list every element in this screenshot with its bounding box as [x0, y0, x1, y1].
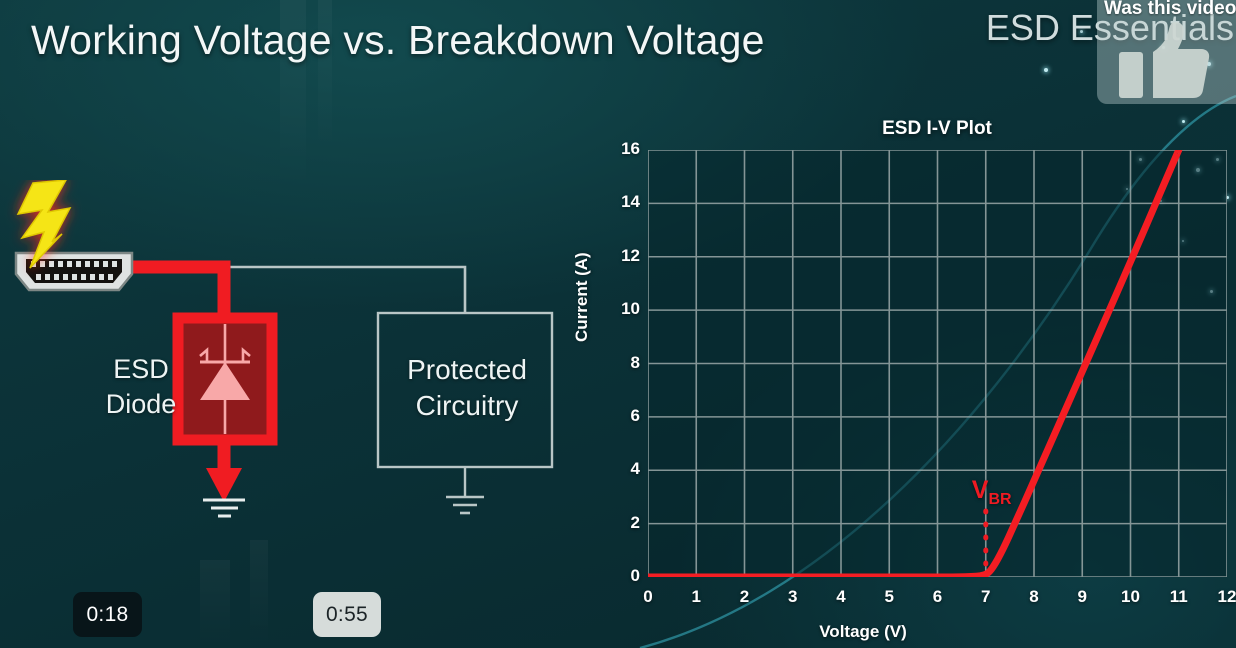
- esd-diode-label-line2: Diode: [86, 387, 196, 422]
- x-tick-label: 8: [1014, 587, 1054, 607]
- y-tick-label: 6: [606, 406, 640, 426]
- bg-streak: [250, 540, 268, 648]
- vbr-annotation: VBR: [972, 476, 1012, 509]
- chart-title-wrapper: ESD I-V Plot: [837, 118, 1037, 140]
- protected-label-line1: Protected: [378, 352, 556, 388]
- current-time-badge[interactable]: 0:18: [73, 592, 142, 637]
- x-tick-label: 9: [1062, 587, 1102, 607]
- x-tick-label: 4: [821, 587, 861, 607]
- esd-diode-label: ESD Diode: [86, 352, 196, 421]
- y-tick-label: 8: [606, 353, 640, 373]
- plot-area: VBR: [648, 150, 1227, 577]
- circuit-diagram: ESD Diode Protected Circuitry: [0, 180, 600, 540]
- gridlines: [648, 150, 1227, 577]
- signal-wire: [139, 267, 465, 313]
- x-tick-label: 6: [918, 587, 958, 607]
- y-tick-label: 2: [606, 513, 640, 533]
- x-tick-label: 3: [773, 587, 813, 607]
- bg-streak: [200, 560, 230, 648]
- y-tick-label: 4: [606, 459, 640, 479]
- y-tick-label: 12: [606, 246, 640, 266]
- esd-current-wire: [133, 267, 224, 320]
- esd-iv-chart: ESD I-V Plot Current (A) Voltage (V) 024…: [575, 108, 1236, 648]
- current-arrow: [206, 468, 242, 502]
- y-tick-label: 16: [606, 139, 640, 159]
- vbr-sublabel: BR: [988, 491, 1011, 508]
- protected-circuitry-label: Protected Circuitry: [378, 352, 556, 424]
- particle: [1044, 68, 1048, 72]
- esd-ground-symbol: [203, 500, 245, 516]
- y-axis-label: Current (A): [572, 252, 592, 342]
- x-axis-label: Voltage (V): [763, 622, 963, 642]
- page-title: Working Voltage vs. Breakdown Voltage: [31, 17, 765, 64]
- protected-label-line2: Circuitry: [378, 388, 556, 424]
- x-tick-label: 12: [1207, 587, 1236, 607]
- x-tick-label: 1: [676, 587, 716, 607]
- y-tick-label: 10: [606, 299, 640, 319]
- y-tick-label: 14: [606, 192, 640, 212]
- vbr-label: V: [972, 476, 989, 504]
- x-tick-label: 11: [1159, 587, 1199, 607]
- total-time-badge[interactable]: 0:55: [313, 592, 381, 637]
- x-tick-label: 10: [1111, 587, 1151, 607]
- survey-prompt: Was this video: [1104, 0, 1236, 20]
- survey-overlay[interactable]: Was this video: [1097, 0, 1236, 104]
- x-tick-label: 2: [725, 587, 765, 607]
- esd-diode-label-line1: ESD: [86, 352, 196, 387]
- chart-title: ESD I-V Plot: [882, 118, 992, 139]
- y-tick-label: 0: [606, 566, 640, 586]
- x-tick-label: 0: [628, 587, 668, 607]
- video-frame: Working Voltage vs. Breakdown Voltage ES…: [0, 0, 1236, 648]
- x-tick-label: 7: [966, 587, 1006, 607]
- thumbs-up-icon[interactable]: [1119, 22, 1211, 100]
- x-tick-label: 5: [869, 587, 909, 607]
- protected-ground-symbol: [446, 497, 484, 513]
